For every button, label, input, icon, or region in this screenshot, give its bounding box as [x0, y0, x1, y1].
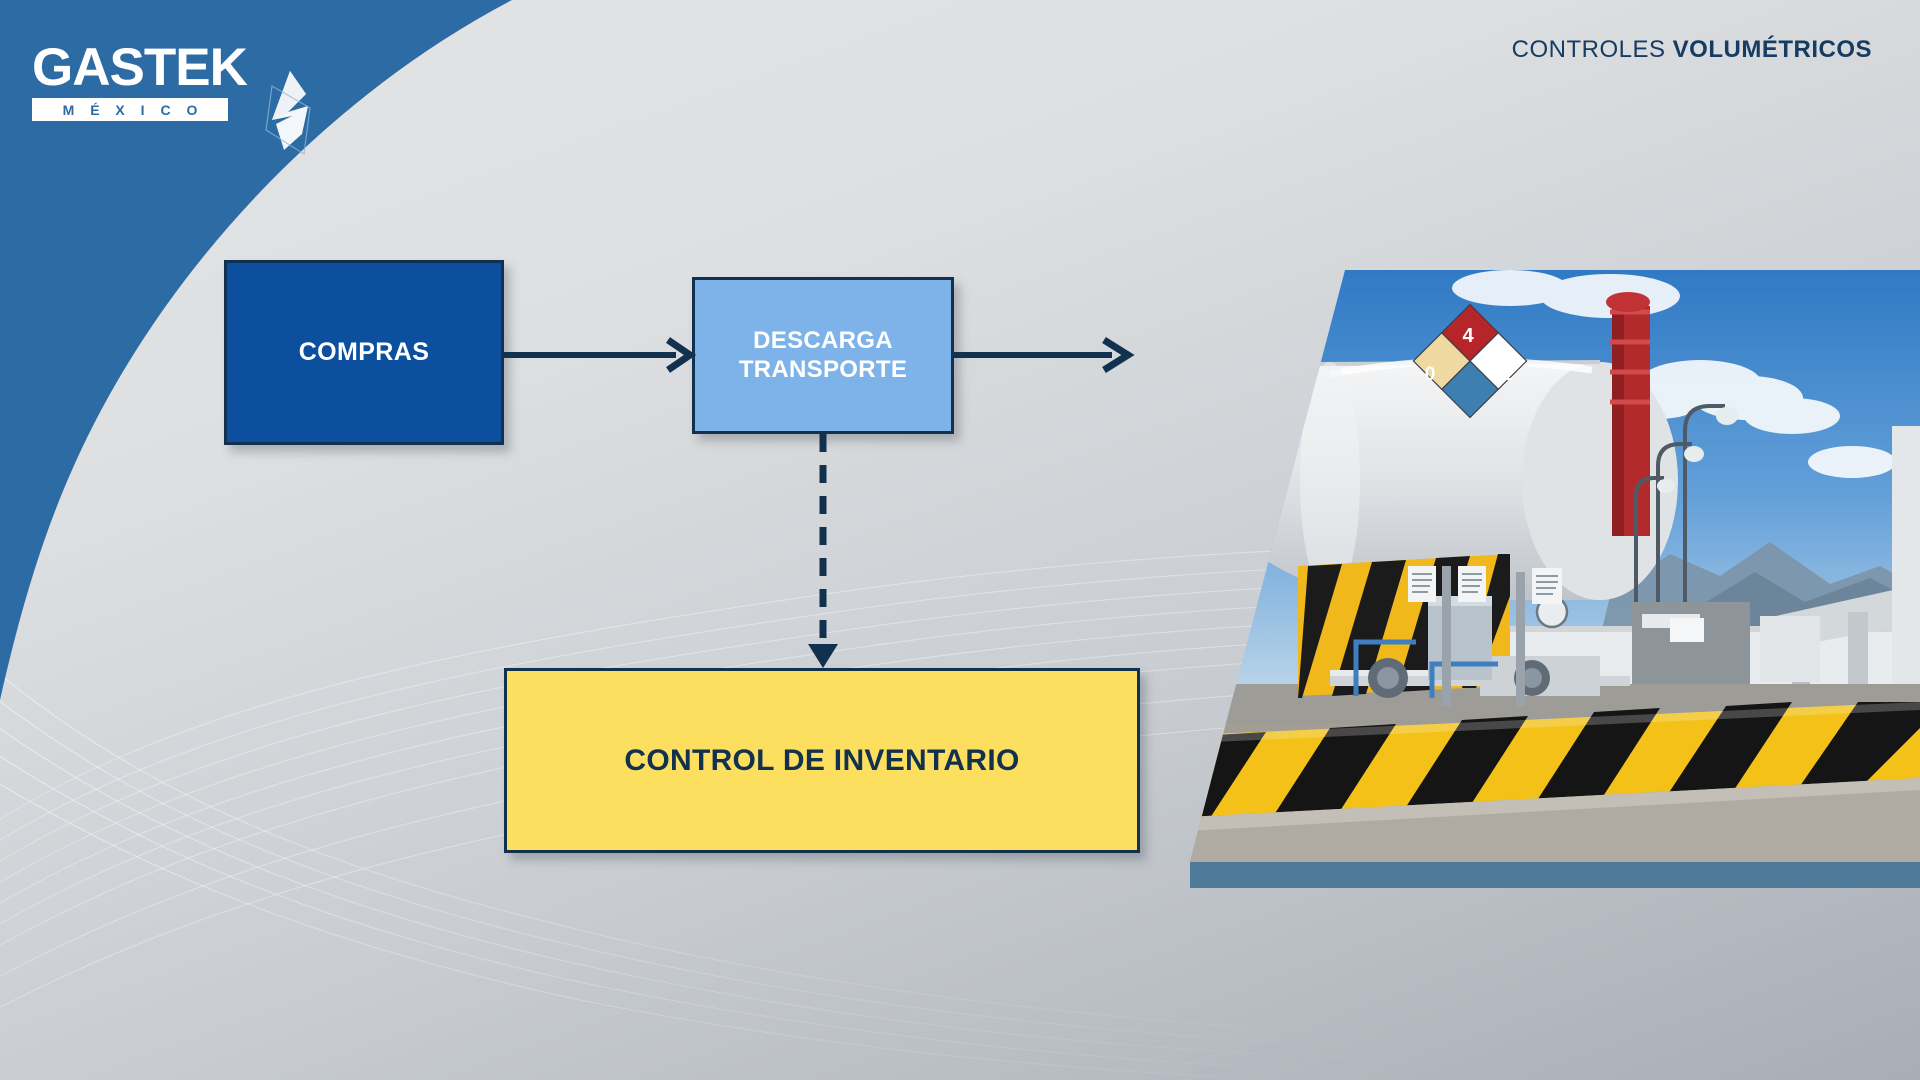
connector-descarga-to-right [950, 330, 1140, 380]
flow-node-descarga-label: DESCARGA TRANSPORTE [739, 327, 907, 384]
page-title: CONTROLES VOLUMÉTRICOS [1512, 36, 1872, 64]
page-title-bold: VOLUMÉTRICOS [1673, 36, 1872, 63]
gastek-logo: GASTEK M É X I C O [32, 40, 302, 140]
flow-node-compras-label: COMPRAS [299, 338, 430, 368]
flow-node-descarga[interactable]: DESCARGA TRANSPORTE [692, 277, 954, 434]
connector-compras-to-descarga [500, 330, 700, 380]
svg-text:0: 0 [1425, 364, 1436, 385]
connector-descarga-to-inventario [798, 432, 848, 672]
flow-node-compras[interactable]: COMPRAS [224, 260, 504, 445]
svg-text:1: 1 [1502, 364, 1513, 385]
slide-canvas: GASTEK M É X I C O CONTROLES VOLUMÉTRICO… [0, 0, 1920, 1080]
flow-node-descarga-line2: TRANSPORTE [739, 356, 907, 383]
flow-node-inventario-label: CONTROL DE INVENTARIO [624, 743, 1019, 778]
gastek-flame-mark-icon [258, 68, 318, 158]
flow-node-descarga-line1: DESCARGA [753, 327, 893, 354]
lpg-facility-photo: 4 0 1 [1180, 266, 1920, 866]
svg-text:4: 4 [1462, 325, 1474, 347]
page-title-light: CONTROLES [1512, 36, 1666, 63]
flow-node-inventario[interactable]: CONTROL DE INVENTARIO [504, 668, 1140, 853]
logo-subtitle: M É X I C O [57, 102, 204, 118]
logo-subtitle-bar: M É X I C O [32, 98, 228, 121]
